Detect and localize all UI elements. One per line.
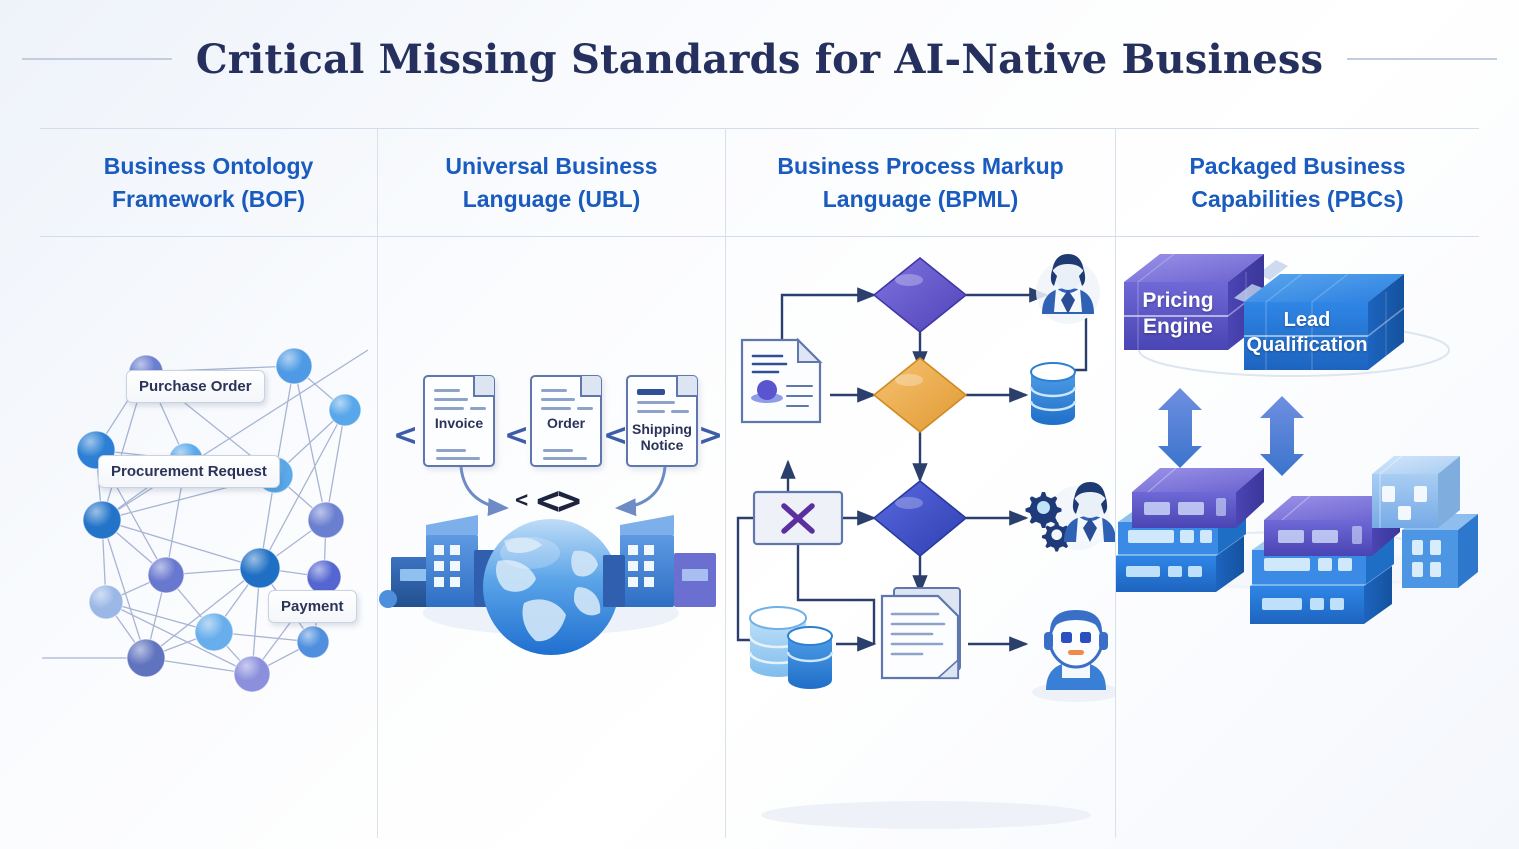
graph-node[interactable] bbox=[240, 548, 280, 588]
document-card-invoice: Invoice bbox=[423, 375, 495, 467]
page-fold-icon bbox=[676, 376, 697, 397]
graph-node[interactable] bbox=[83, 501, 121, 539]
graph-edge bbox=[102, 520, 260, 568]
decision-diamond-middle bbox=[874, 358, 966, 432]
column-heading-bpml: Business Process Markup Language (BPML) bbox=[726, 150, 1115, 226]
panel-ubl: < Invoice < Order < Shipping Notice > bbox=[378, 240, 725, 838]
sync-arrow-left bbox=[1158, 388, 1202, 468]
page-title: Critical Missing Standards for AI-Native… bbox=[196, 36, 1324, 83]
sync-arrow-right bbox=[1260, 396, 1304, 476]
document-card-shipping-notice: Shipping Notice bbox=[626, 375, 698, 467]
graph-node[interactable] bbox=[195, 613, 233, 651]
robot-icon bbox=[1032, 610, 1115, 702]
graph-node[interactable] bbox=[308, 502, 344, 538]
graph-label-procurement-request: Procurement Request bbox=[98, 455, 280, 488]
graph-node[interactable] bbox=[89, 585, 123, 619]
angle-bracket-2: < bbox=[603, 418, 628, 453]
column-heading-pbc-line2: Capabilities (PBCs) bbox=[1116, 183, 1479, 216]
graph-node[interactable] bbox=[297, 626, 329, 658]
document-input-icon bbox=[742, 340, 820, 422]
graph-node[interactable] bbox=[307, 560, 341, 594]
page-fold-icon bbox=[580, 376, 601, 397]
column-heading-bpml-line1: Business Process Markup bbox=[726, 150, 1115, 183]
title-rule-right bbox=[1347, 58, 1497, 60]
page-header: Critical Missing Standards for AI-Native… bbox=[0, 24, 1519, 94]
graph-node[interactable] bbox=[234, 656, 270, 692]
graph-node[interactable] bbox=[276, 348, 312, 384]
database-pair-icon bbox=[750, 607, 832, 689]
column-heading-bof-line2: Framework (BOF) bbox=[40, 183, 377, 216]
column-heading-bof-line1: Business Ontology bbox=[40, 150, 377, 183]
panel-pbc: Pricing Engine Lead Qualification bbox=[1116, 240, 1479, 838]
document-card-shipping-notice-label: Shipping Notice bbox=[628, 421, 696, 453]
document-output-icon bbox=[882, 588, 960, 678]
title-rule-left bbox=[22, 58, 172, 60]
person-gears-icon bbox=[1026, 482, 1116, 552]
building-group-right bbox=[603, 515, 716, 607]
decision-diamond-top bbox=[874, 258, 966, 332]
graph-node[interactable] bbox=[148, 557, 184, 593]
header-divider-top bbox=[40, 128, 1479, 129]
pbc-modules bbox=[1116, 240, 1479, 838]
module-stack-left bbox=[1116, 468, 1264, 592]
angle-bracket-1: < bbox=[504, 418, 529, 453]
column-heading-ubl: Universal Business Language (UBL) bbox=[378, 150, 725, 226]
module-lead-qualification bbox=[1234, 274, 1404, 370]
globe-icon bbox=[483, 519, 619, 655]
angle-bracket-left: < bbox=[393, 418, 418, 453]
panel-bof: Purchase Order Procurement Request Payme… bbox=[40, 240, 377, 838]
column-heading-ubl-line1: Universal Business bbox=[378, 150, 725, 183]
decision-diamond-bottom bbox=[874, 481, 966, 556]
database-right-icon bbox=[1031, 363, 1075, 425]
angle-bracket-right: > bbox=[698, 418, 723, 453]
document-card-order-label: Order bbox=[532, 415, 600, 431]
column-heading-bof: Business Ontology Framework (BOF) bbox=[40, 150, 377, 226]
building-group-left bbox=[379, 515, 500, 608]
bpml-flowchart bbox=[726, 240, 1115, 838]
panel-bpml bbox=[726, 240, 1115, 838]
graph-node[interactable] bbox=[329, 394, 361, 426]
column-heading-ubl-line2: Language (UBL) bbox=[378, 183, 725, 216]
graph-label-payment: Payment bbox=[268, 590, 357, 623]
knowledge-graph bbox=[40, 240, 377, 838]
column-heading-bpml-line2: Language (BPML) bbox=[726, 183, 1115, 216]
header-divider-bottom bbox=[40, 236, 1479, 237]
gateway-x-icon bbox=[754, 492, 842, 544]
graph-node[interactable] bbox=[127, 639, 165, 677]
page-fold-icon bbox=[473, 376, 494, 397]
person-top-icon bbox=[1036, 254, 1100, 324]
graph-label-purchase-order: Purchase Order bbox=[126, 370, 265, 403]
globe-and-buildings bbox=[378, 495, 725, 675]
column-heading-pbc: Packaged Business Capabilities (PBCs) bbox=[1116, 150, 1479, 226]
document-card-order: Order bbox=[530, 375, 602, 467]
column-heading-pbc-line1: Packaged Business bbox=[1116, 150, 1479, 183]
document-card-invoice-label: Invoice bbox=[425, 415, 493, 431]
